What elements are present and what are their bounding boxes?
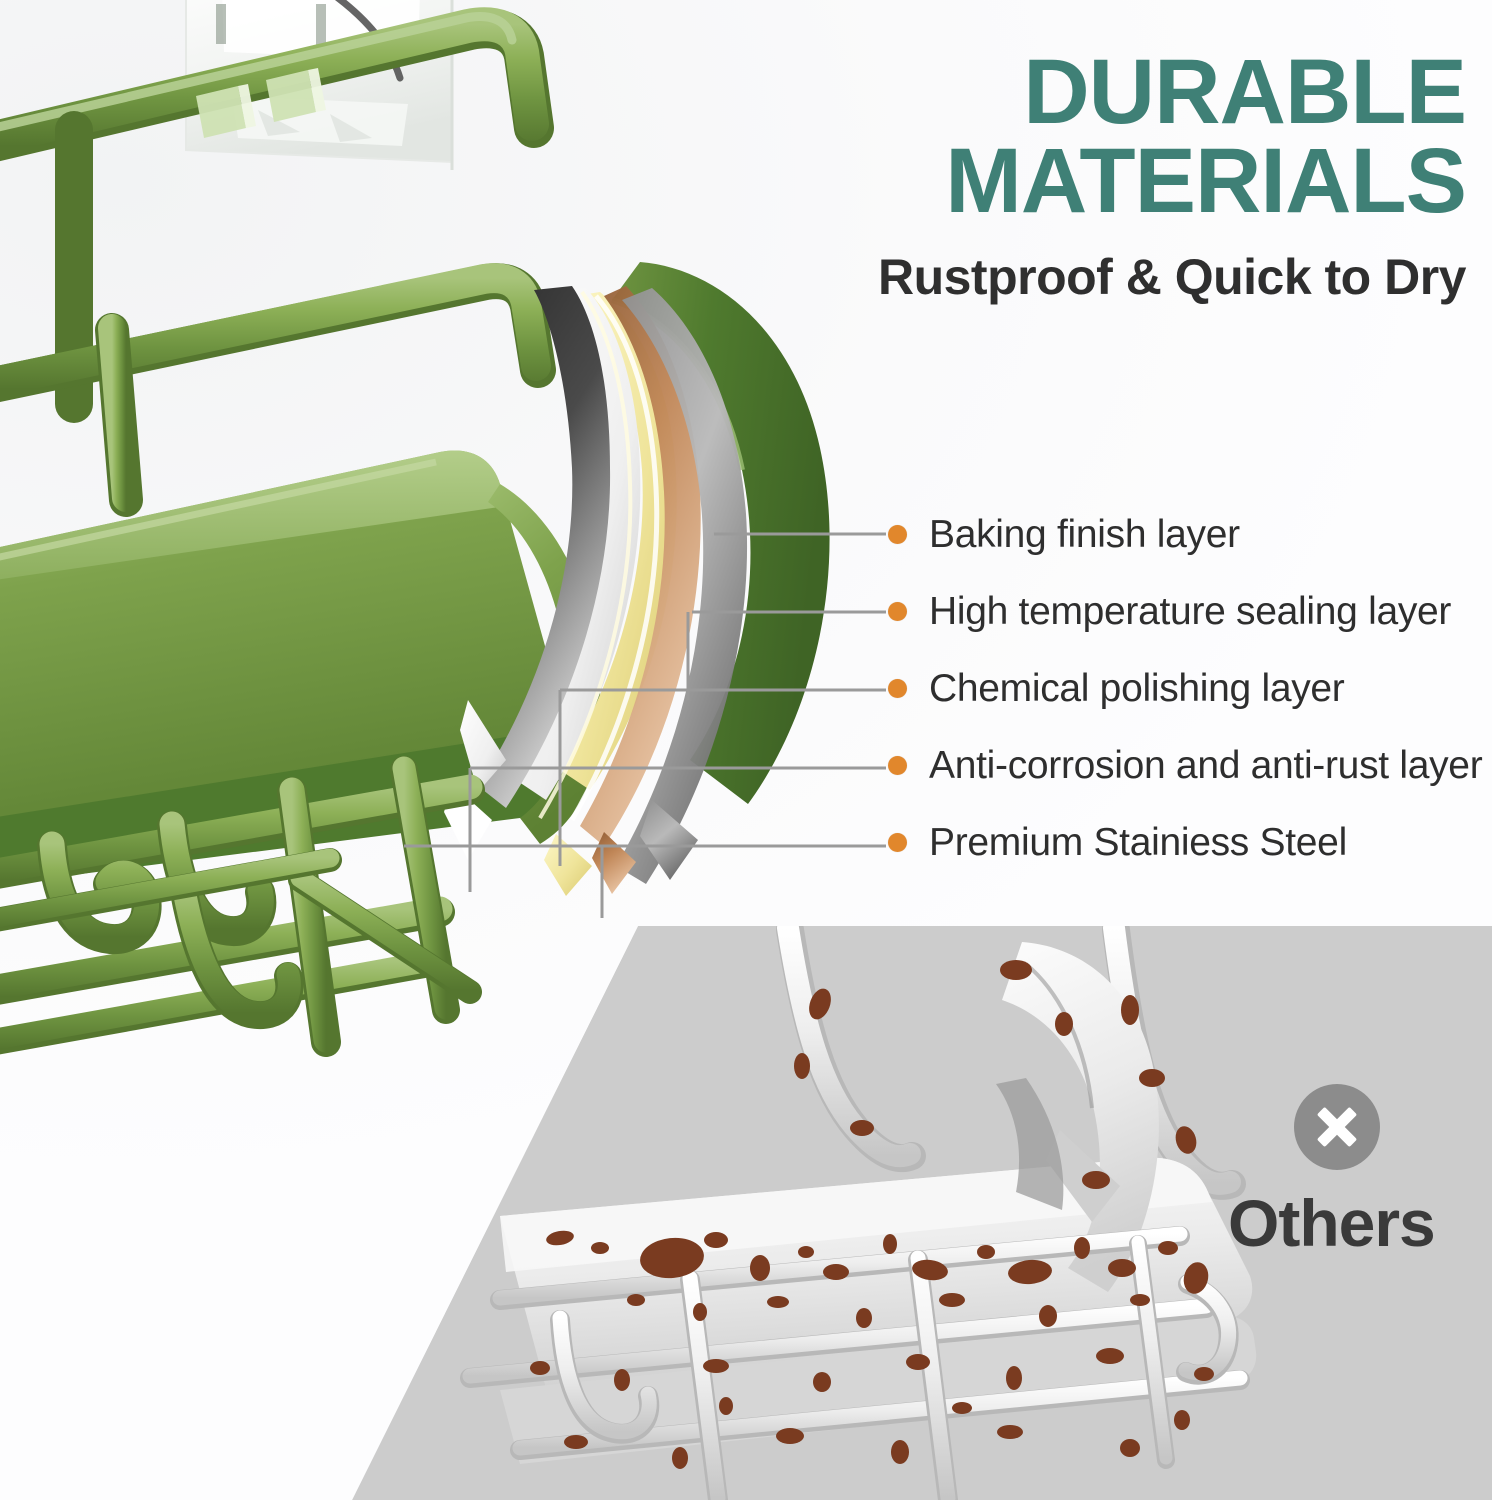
others-label: Others (1228, 1185, 1435, 1261)
callout-label: Premium Stainiess Steel (929, 823, 1347, 862)
callout-item: Chemical polishing layer (866, 666, 1345, 710)
subtitle: Rustproof & Quick to Dry (766, 248, 1466, 306)
bullet-dot-icon (888, 756, 907, 775)
heading-block: DURABLE MATERIALS Rustproof & Quick to D… (766, 48, 1466, 306)
others-cross-badge (1294, 1084, 1380, 1170)
bullet-dot-icon (888, 679, 907, 698)
cross-x-icon (1313, 1103, 1361, 1151)
callout-label: High temperature sealing layer (929, 592, 1451, 631)
callout-item: Baking finish layer (866, 512, 1240, 556)
infographic-canvas: DURABLE MATERIALS Rustproof & Quick to D… (0, 0, 1492, 1500)
green-shelf-art (0, 0, 830, 1052)
bullet-dot-icon (888, 602, 907, 621)
title-line-2: MATERIALS (766, 137, 1466, 226)
bullet-dot-icon (888, 833, 907, 852)
callout-item: Anti-corrosion and anti-rust layer (866, 743, 1482, 787)
callout-label: Anti-corrosion and anti-rust layer (929, 746, 1482, 785)
callout-label: Chemical polishing layer (929, 669, 1345, 708)
callout-label: Baking finish layer (929, 515, 1240, 554)
callout-item: High temperature sealing layer (866, 589, 1451, 633)
callout-item: Premium Stainiess Steel (866, 820, 1347, 864)
title-line-1: DURABLE (766, 48, 1466, 137)
bullet-dot-icon (888, 525, 907, 544)
